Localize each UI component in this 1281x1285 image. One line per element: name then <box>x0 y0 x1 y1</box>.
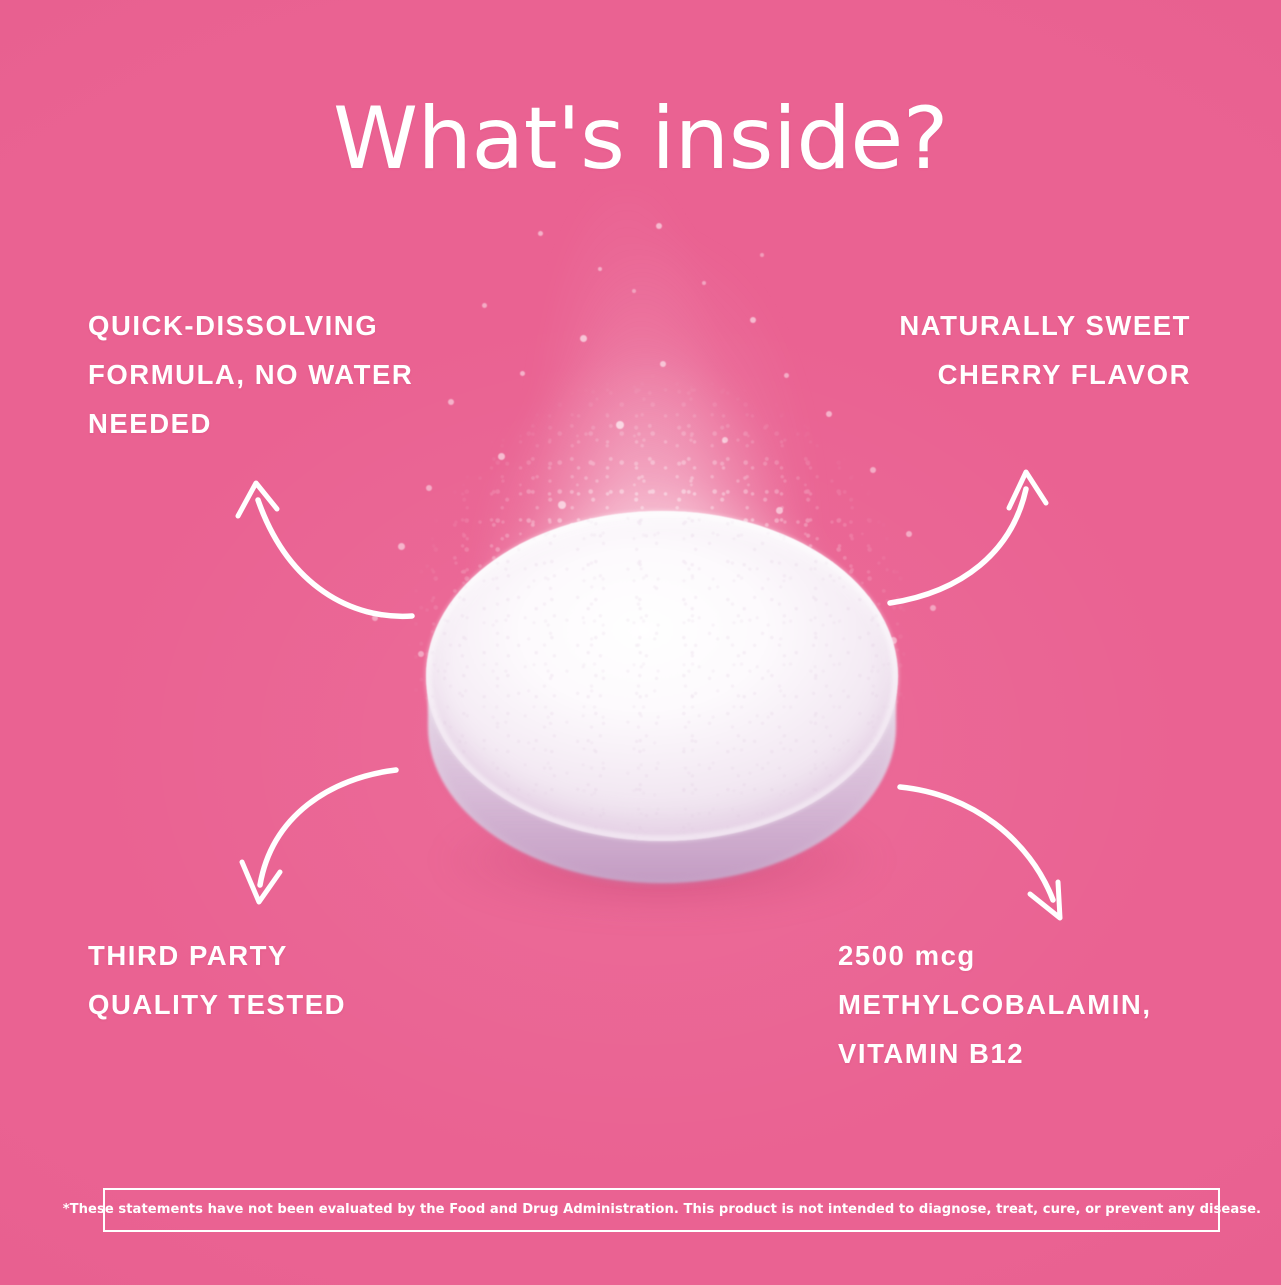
product-infographic: What's inside? QUICK-DISSOLVING FORMULA,… <box>0 0 1281 1285</box>
page-title: What's inside? <box>0 96 1281 182</box>
disclaimer-box: *These statements have not been evaluate… <box>103 1188 1220 1232</box>
effervescent-tablet <box>418 505 906 905</box>
arrow-curved-down-left <box>242 770 396 902</box>
feature-quick-dissolving: QUICK-DISSOLVING FORMULA, NO WATER NEEDE… <box>88 302 548 449</box>
feature-dosage: 2500 mcg METHYLCOBALAMIN, VITAMIN B12 <box>838 932 1268 1079</box>
feature-cherry-flavor: NATURALLY SWEET CHERRY FLAVOR <box>731 302 1191 400</box>
disclaimer-text: *These statements have not been evaluate… <box>62 1203 1260 1217</box>
arrow-curved-down-right <box>900 787 1060 918</box>
arrow-curved-up-left <box>238 483 412 616</box>
arrow-curved-up-right <box>890 472 1046 603</box>
feature-third-party-tested: THIRD PARTY QUALITY TESTED <box>88 932 548 1030</box>
tablet-top-face <box>426 511 898 841</box>
